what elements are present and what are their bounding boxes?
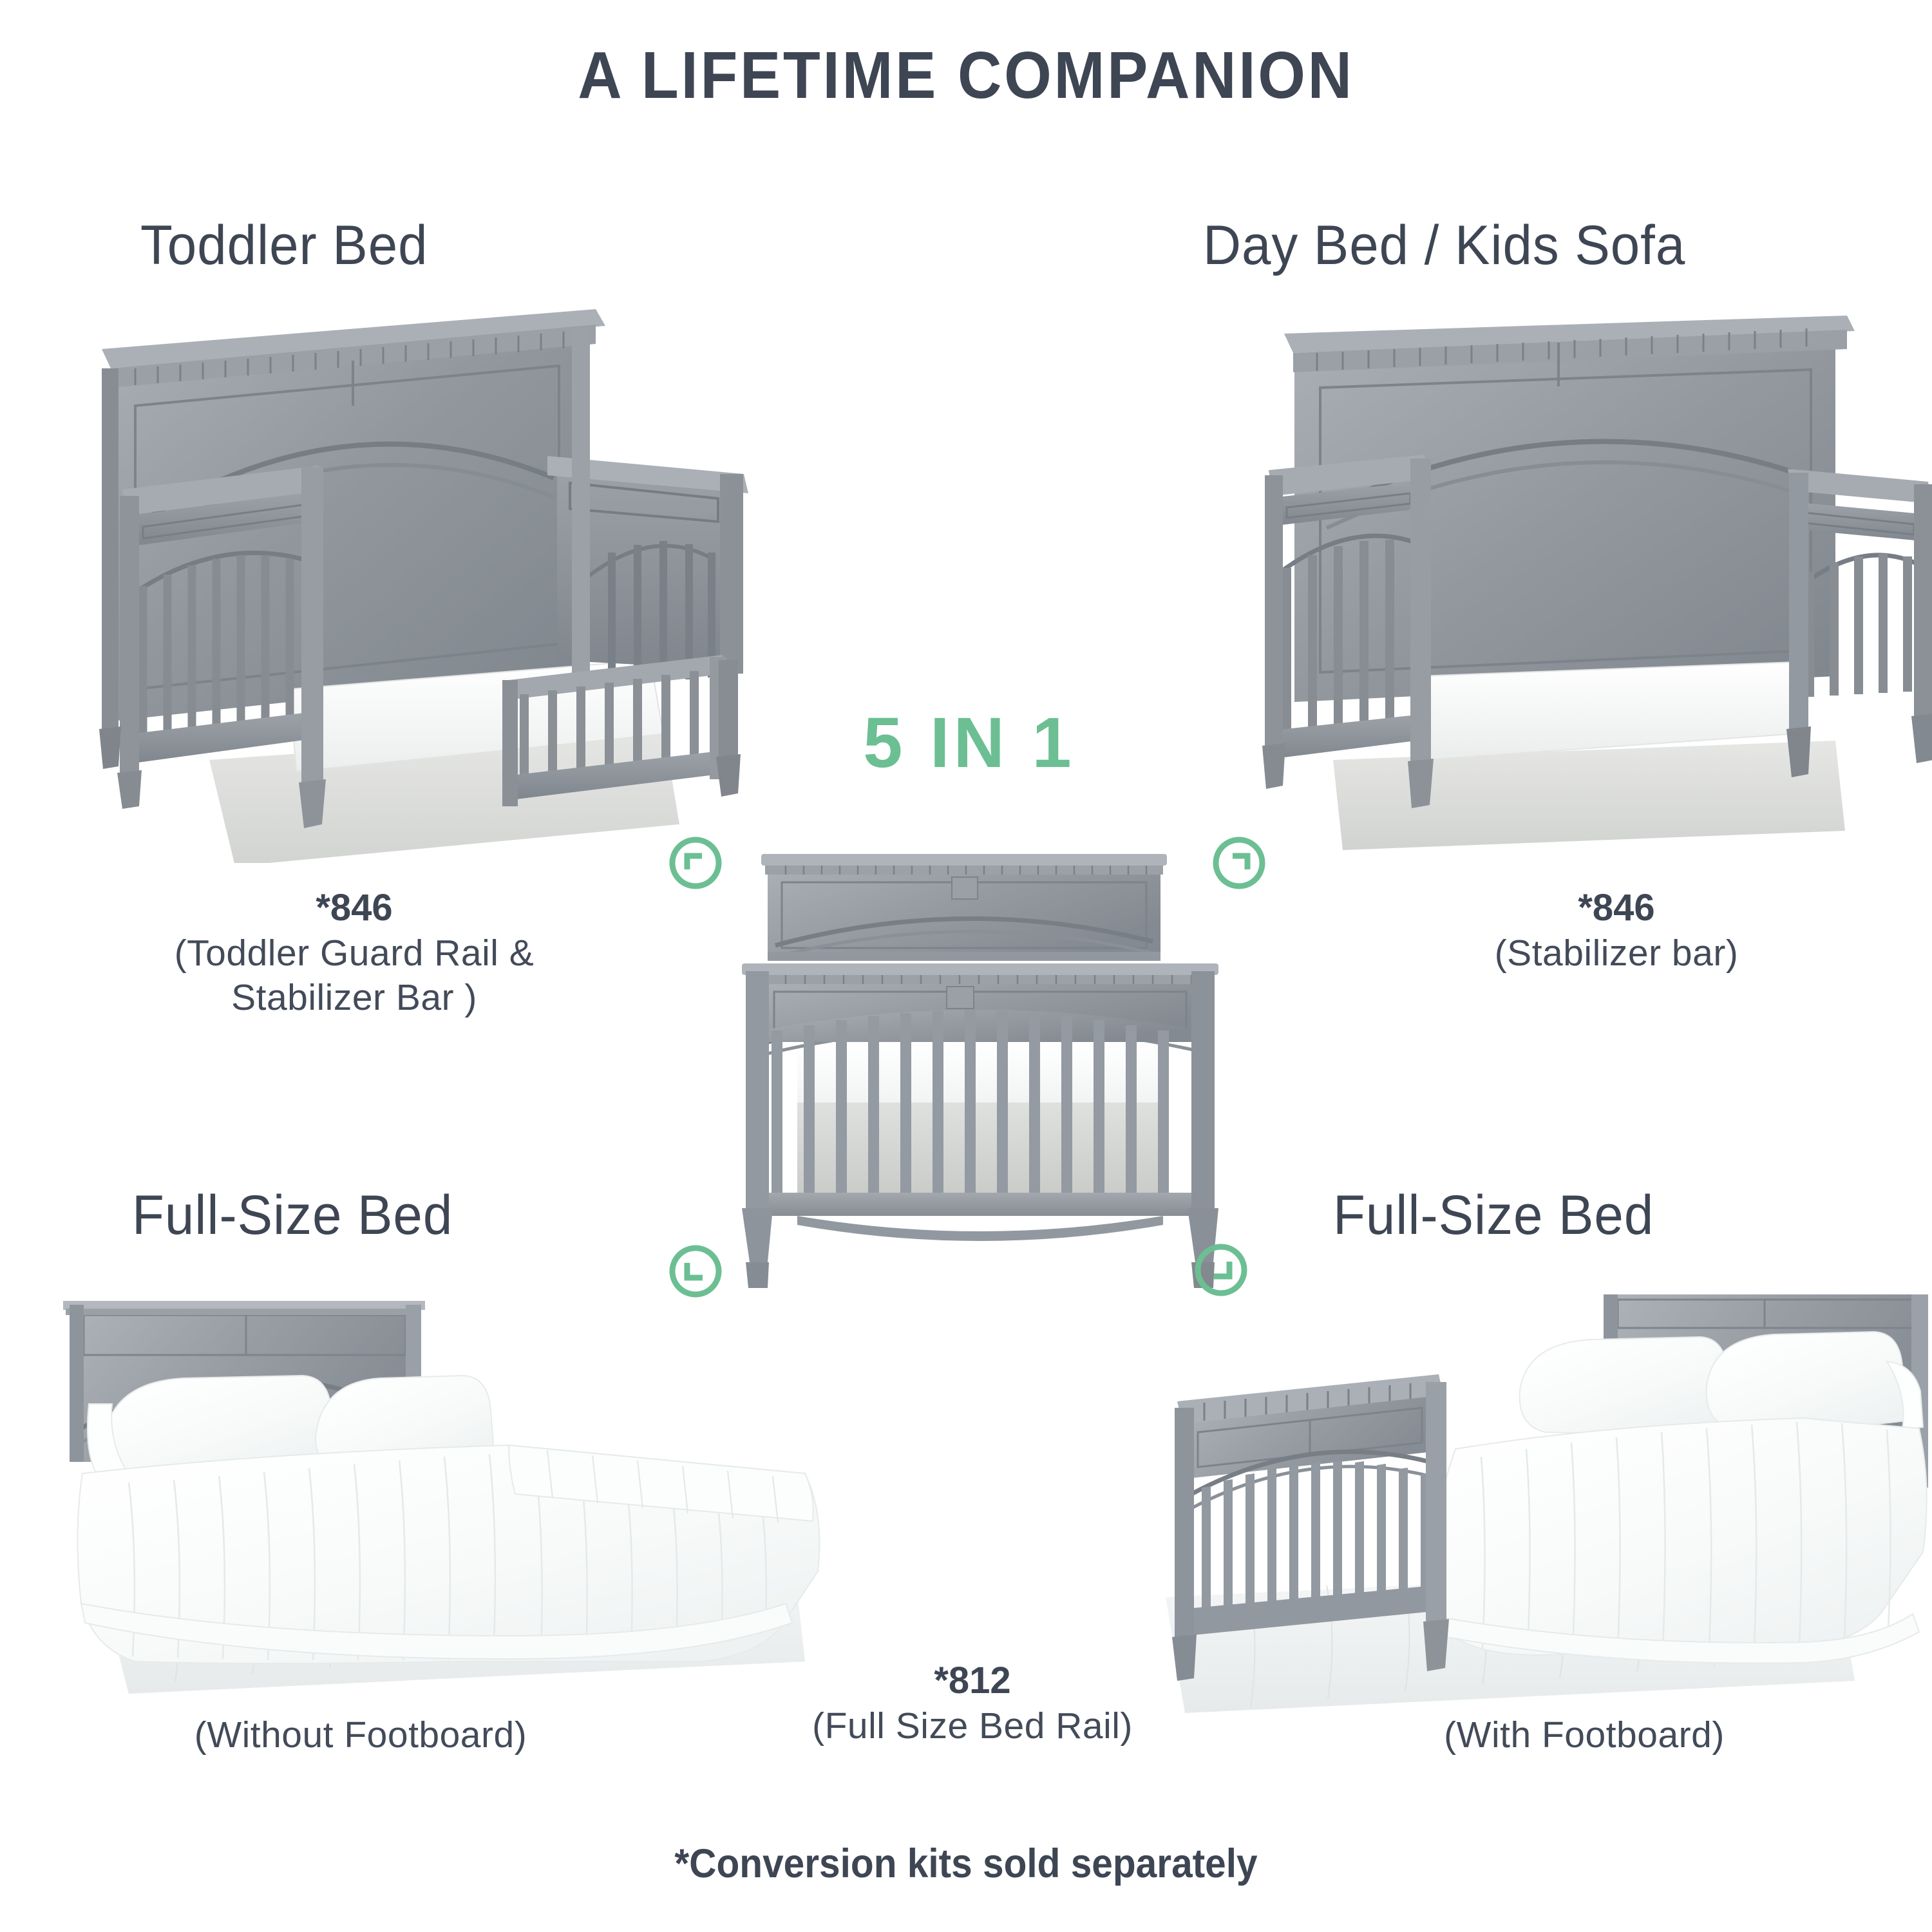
caption-code-bed-rail: *812 <box>734 1658 1211 1704</box>
product-photo-crib <box>728 837 1236 1294</box>
caption-sub-full-right: (With Footboard) <box>1262 1713 1906 1758</box>
caption-code-toddler: *846 <box>39 885 670 931</box>
corner-bottom-right-icon <box>1193 1242 1249 1298</box>
footer-disclaimer: *Conversion kits sold separately <box>68 1841 1864 1887</box>
caption-code-daybed: *846 <box>1294 885 1932 931</box>
section-heading-day-bed: Day Bed / Kids Sofa <box>1203 214 1685 278</box>
caption-bed-rail: *812 (Full Size Bed Rail) <box>734 1658 1211 1748</box>
section-heading-full-size-bed-right: Full-Size Bed <box>1333 1184 1654 1247</box>
caption-sub-full-left: (Without Footboard) <box>39 1713 683 1758</box>
caption-sub-toddler-line2: Stabilizer Bar ) <box>39 976 670 1021</box>
caption-toddler-bed: *846 (Toddler Guard Rail & Stabilizer Ba… <box>39 885 670 1021</box>
product-photo-toddler-bed <box>97 309 779 863</box>
caption-sub-toddler-line1: (Toddler Guard Rail & <box>39 931 670 976</box>
section-heading-full-size-bed-left: Full-Size Bed <box>132 1184 453 1247</box>
caption-day-bed: *846 (Stabilizer bar) <box>1294 885 1932 976</box>
page-title: A LIFETIME COMPANION <box>77 37 1855 113</box>
caption-sub-daybed-line1: (Stabilizer bar) <box>1294 931 1932 976</box>
five-in-one-label: 5 IN 1 <box>744 702 1195 784</box>
corner-top-right-icon <box>1211 835 1267 891</box>
corner-top-left-icon <box>667 835 724 891</box>
product-photo-full-size-bed-with-footboard <box>1153 1294 1932 1726</box>
infographic-page: A LIFETIME COMPANION Toddler Bed Day Bed… <box>0 0 1932 1932</box>
corner-bottom-left-icon <box>667 1243 724 1300</box>
caption-full-size-bed-right: (With Footboard) <box>1262 1713 1906 1758</box>
product-photo-day-bed <box>1256 316 1932 863</box>
product-photo-full-size-bed-without-footboard <box>58 1301 844 1726</box>
caption-full-size-bed-left: (Without Footboard) <box>39 1713 683 1758</box>
caption-sub-bed-rail: (Full Size Bed Rail) <box>734 1704 1211 1749</box>
section-heading-toddler-bed: Toddler Bed <box>140 214 428 278</box>
